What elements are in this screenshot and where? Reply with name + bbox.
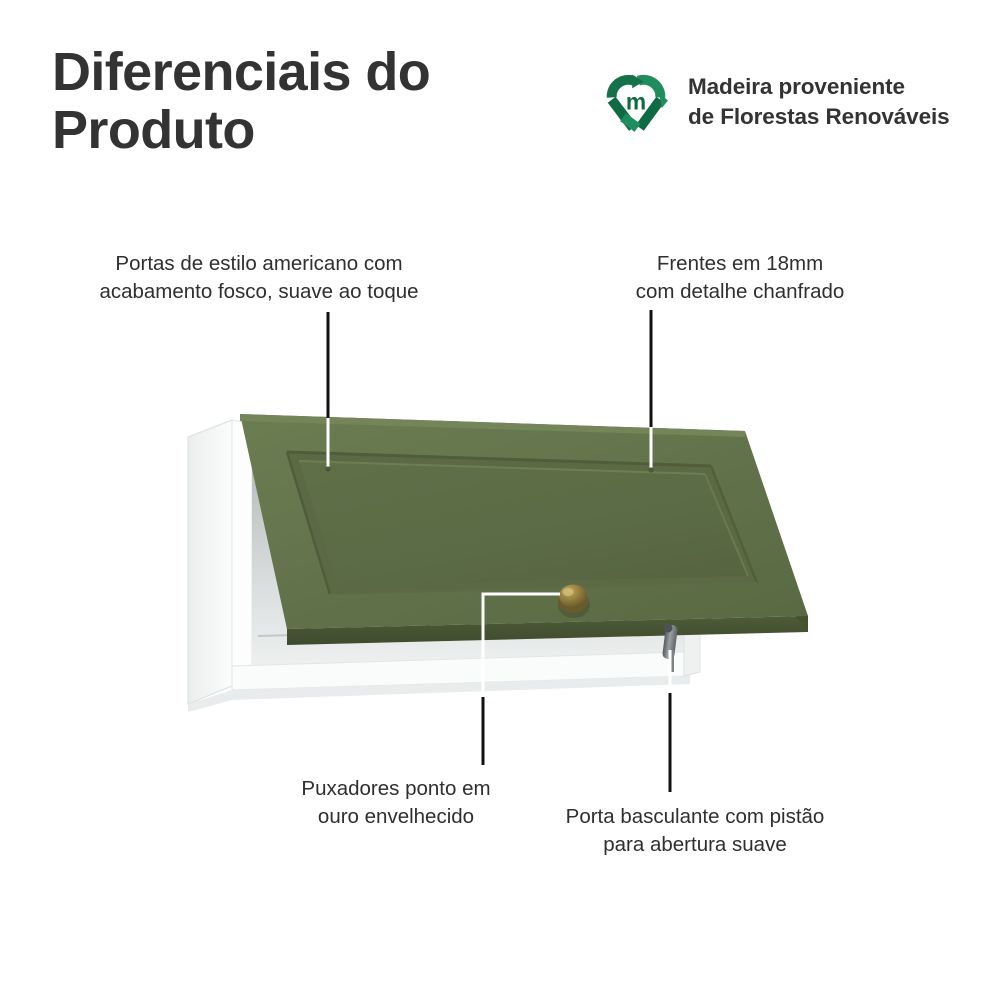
- callout-fronts: Frentes em 18mm com detalhe chanfrado: [590, 250, 890, 307]
- door-inner-panel: [299, 461, 748, 586]
- infographic-page: Diferenciais do Produto: [0, 0, 1000, 1000]
- cabinet-side-panel: [188, 420, 232, 704]
- callout-doors: Portas de estilo americano com acabament…: [60, 250, 458, 307]
- gas-piston-pivot: [664, 624, 673, 633]
- callout-piston: Porta basculante com pistão para abertur…: [528, 803, 862, 860]
- brass-knob-highlight: [563, 588, 574, 596]
- callout-handles: Puxadores ponto em ouro envelhecido: [268, 775, 524, 832]
- brass-knob[interactable]: [559, 585, 587, 608]
- cabinet-front-stile: [232, 420, 252, 686]
- gas-piston-rod: [670, 650, 674, 672]
